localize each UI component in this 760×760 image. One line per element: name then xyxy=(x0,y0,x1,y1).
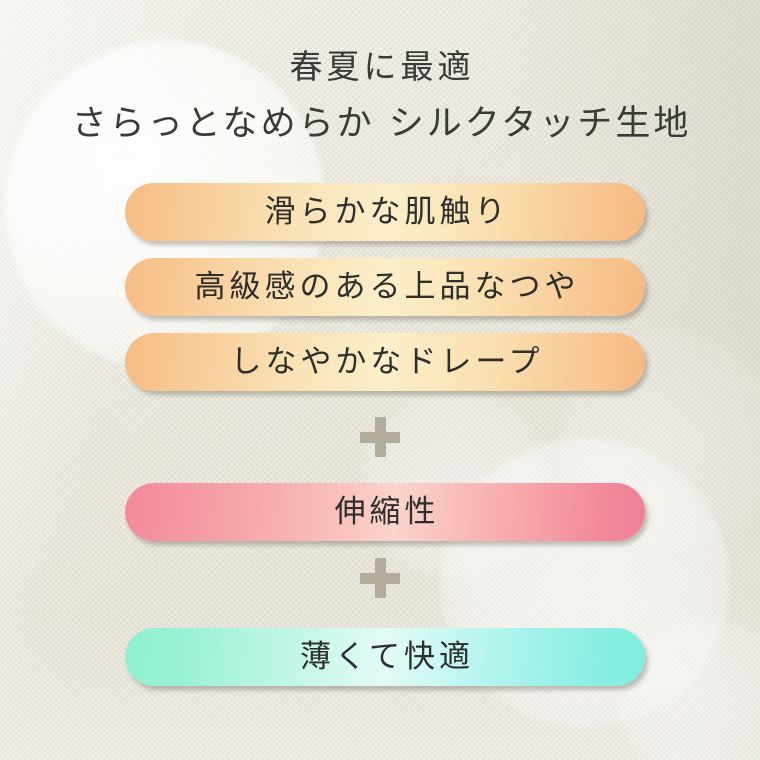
feature-pill-stretch: 伸縮性 xyxy=(125,483,645,541)
feature-pill-label: 薄くて快適 xyxy=(296,642,474,673)
headline-line-1: 春夏に最適 xyxy=(0,44,760,90)
feature-pill-elegant-sheen: 高級感のある上品なつや xyxy=(125,258,645,316)
feature-pill-light-comfort: 薄くて快適 xyxy=(125,628,645,686)
bokeh-circle-bottom-right xyxy=(620,620,760,760)
headline-block: 春夏に最適 さらっとなめらか シルクタッチ生地 xyxy=(0,44,760,150)
feature-pill-supple-drape: しなやかなドレープ xyxy=(125,333,645,391)
promo-banner: 春夏に最適 さらっとなめらか シルクタッチ生地 滑らかな肌触り 高級感のある上品… xyxy=(0,0,760,760)
feature-pill-label: しなやかなドレープ xyxy=(226,347,543,378)
headline-line-2: さらっとなめらか シルクタッチ生地 xyxy=(0,98,760,150)
feature-pill-label: 伸縮性 xyxy=(331,497,440,528)
feature-pill-label: 滑らかな肌触り xyxy=(261,197,510,228)
plus-icon xyxy=(360,417,400,457)
feature-pill-label: 高級感のある上品なつや xyxy=(191,272,580,303)
plus-icon xyxy=(360,558,400,598)
feature-pill-smooth-touch: 滑らかな肌触り xyxy=(125,183,645,241)
